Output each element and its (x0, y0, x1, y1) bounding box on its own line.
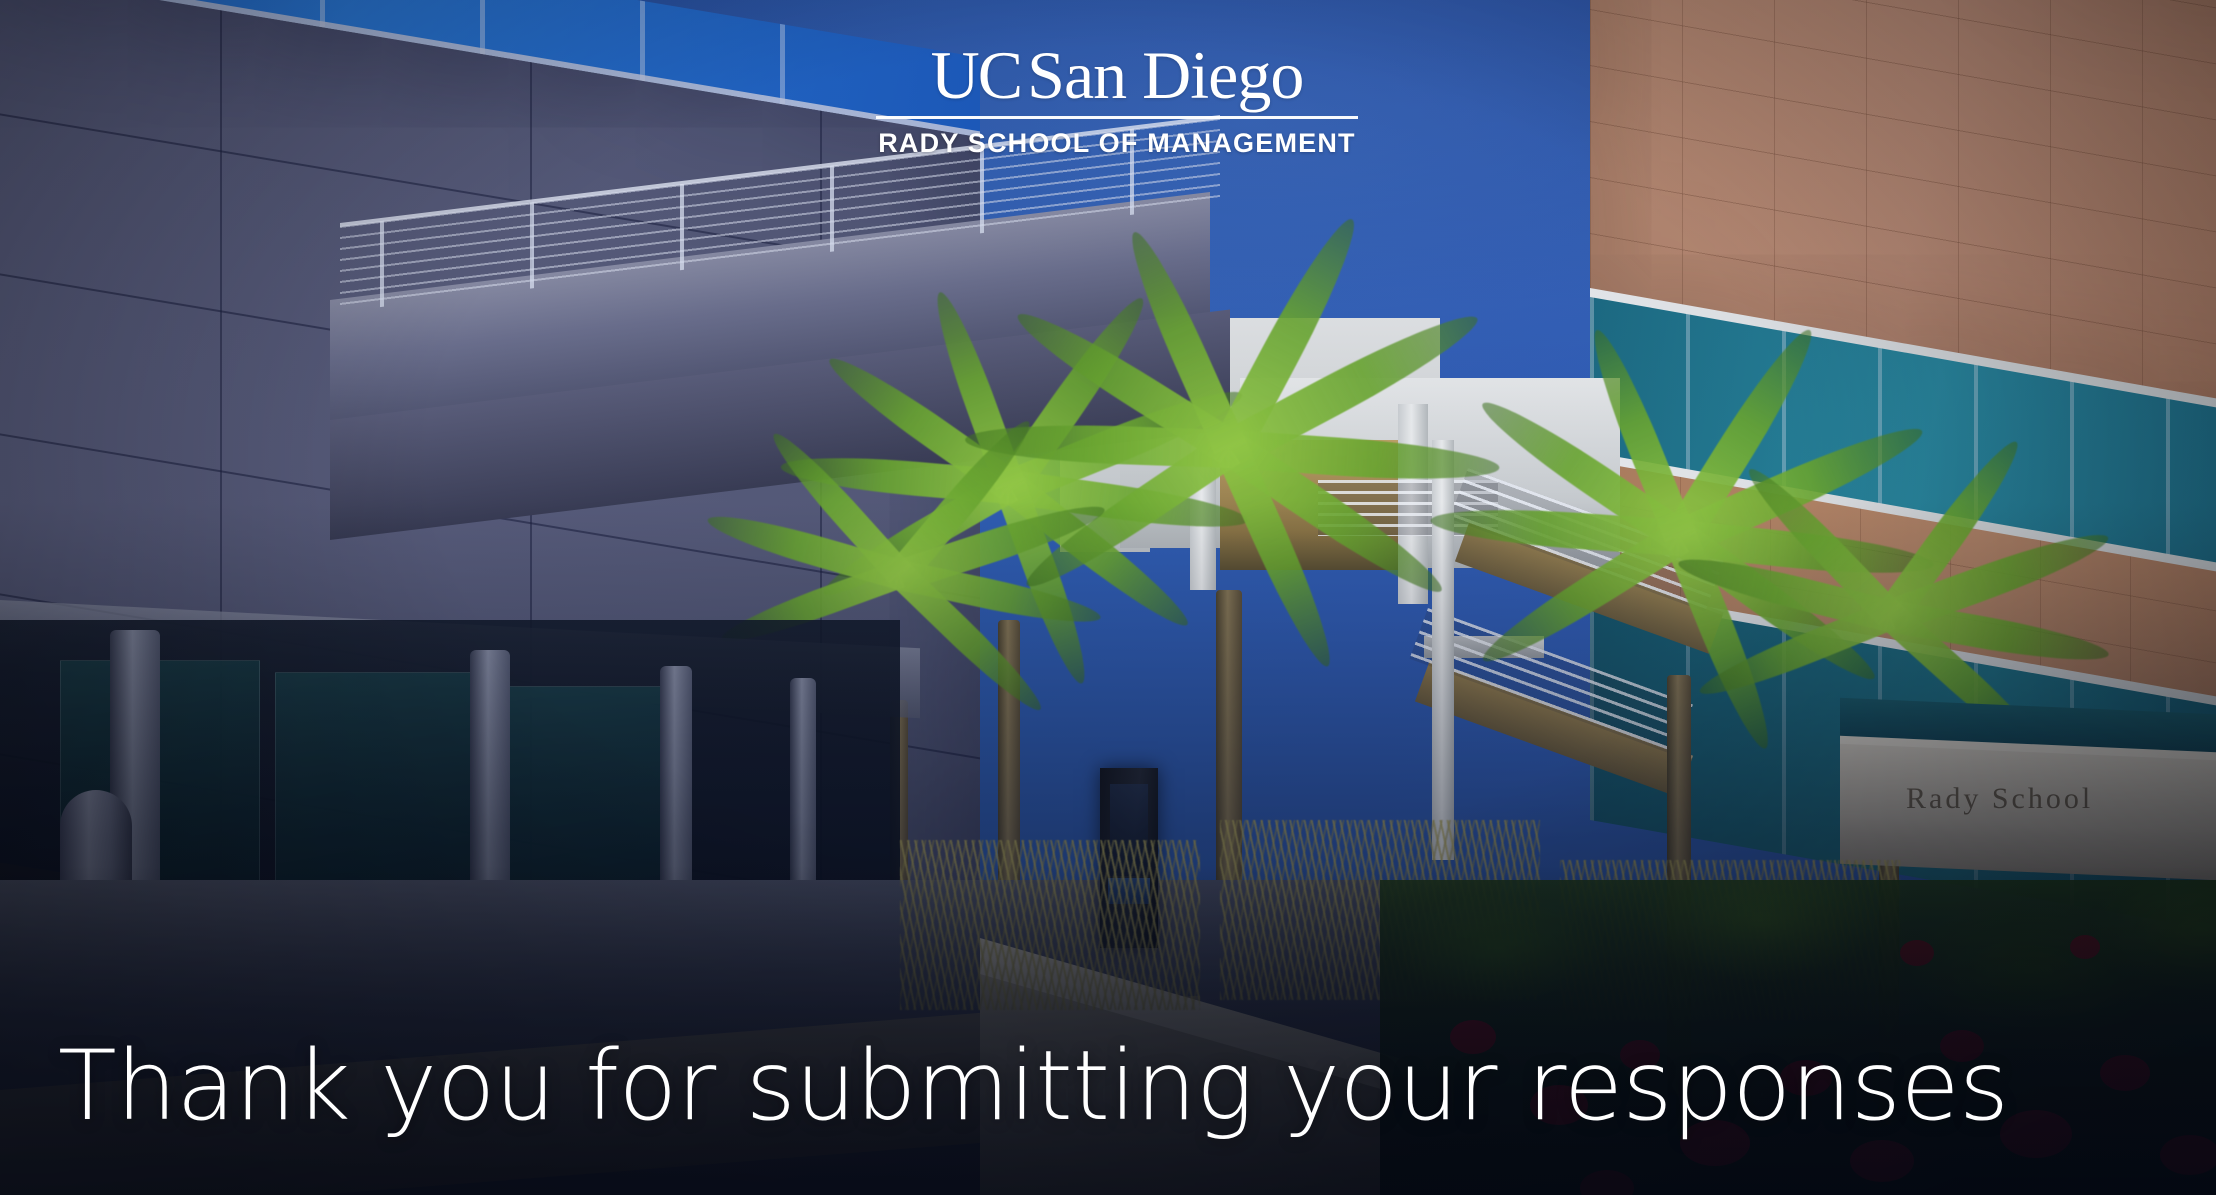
campus-photo-background: Rady School (0, 0, 2216, 1195)
confirmation-slide: Rady School (0, 0, 2216, 1195)
palm-tree-4 (900, 560, 901, 561)
palm-tree-5 (1890, 600, 1891, 601)
wordmark-san-diego: San Diego (1027, 37, 1303, 113)
palm-tree-3 (1680, 520, 1681, 521)
ucsd-rady-logo-lockup: UCSan Diego RADY SCHOOL OF MANAGEMENT (876, 42, 1358, 159)
ornamental-grass-center (900, 840, 1200, 1010)
rady-school-sign-text: Rady School (1906, 782, 2093, 816)
wordmark-uc: UC (931, 37, 1021, 113)
stair-tower-column (1432, 440, 1454, 860)
school-name-label: RADY SCHOOL OF MANAGEMENT (876, 128, 1358, 159)
logo-divider-rule (876, 116, 1358, 119)
palm-tree-1 (1010, 470, 1011, 471)
palm-tree-2 (1230, 430, 1231, 431)
ucsd-wordmark: UCSan Diego (876, 42, 1358, 109)
confirmation-headline: Thank you for submitting your responses (58, 1036, 2009, 1137)
